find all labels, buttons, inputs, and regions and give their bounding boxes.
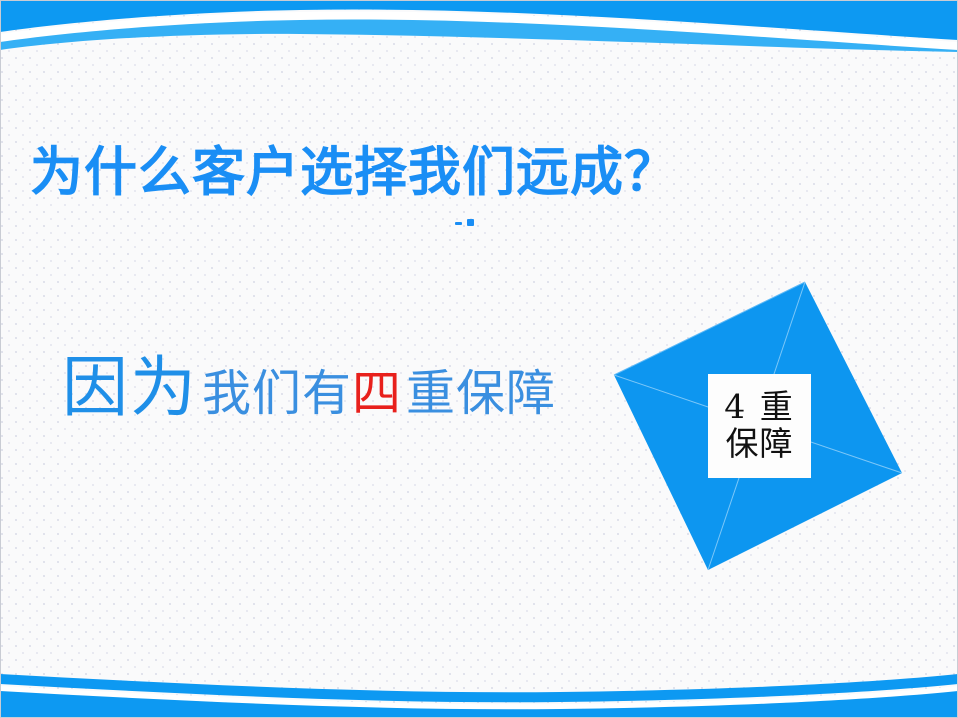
headline-segment-highlight: 四 — [352, 369, 402, 418]
page-title: 为什么客户选择我们远成？ — [30, 143, 678, 204]
top-wave-banner — [0, 0, 958, 52]
headline-segment-tail: 重保障 — [406, 369, 556, 418]
bottom-wave-banner — [0, 660, 958, 718]
title-dot-large — [467, 219, 474, 226]
diamond-label-box: 4 重 保障 — [708, 374, 811, 478]
diamond-label-line-1: 4 重 — [724, 389, 795, 426]
title-decor-dots — [455, 216, 485, 228]
headline-segment-lead: 我们有 — [202, 369, 352, 418]
headline: 因为 我们有 四 重保障 — [62, 355, 556, 421]
diamond-label-line-2: 保障 — [726, 426, 794, 463]
title-dot-small — [455, 222, 462, 225]
slide-canvas: 为什么客户选择我们远成？ 因为 我们有 四 重保障 4 重 保障 — [0, 0, 958, 718]
headline-segment-emphasis: 因为 — [62, 355, 198, 421]
